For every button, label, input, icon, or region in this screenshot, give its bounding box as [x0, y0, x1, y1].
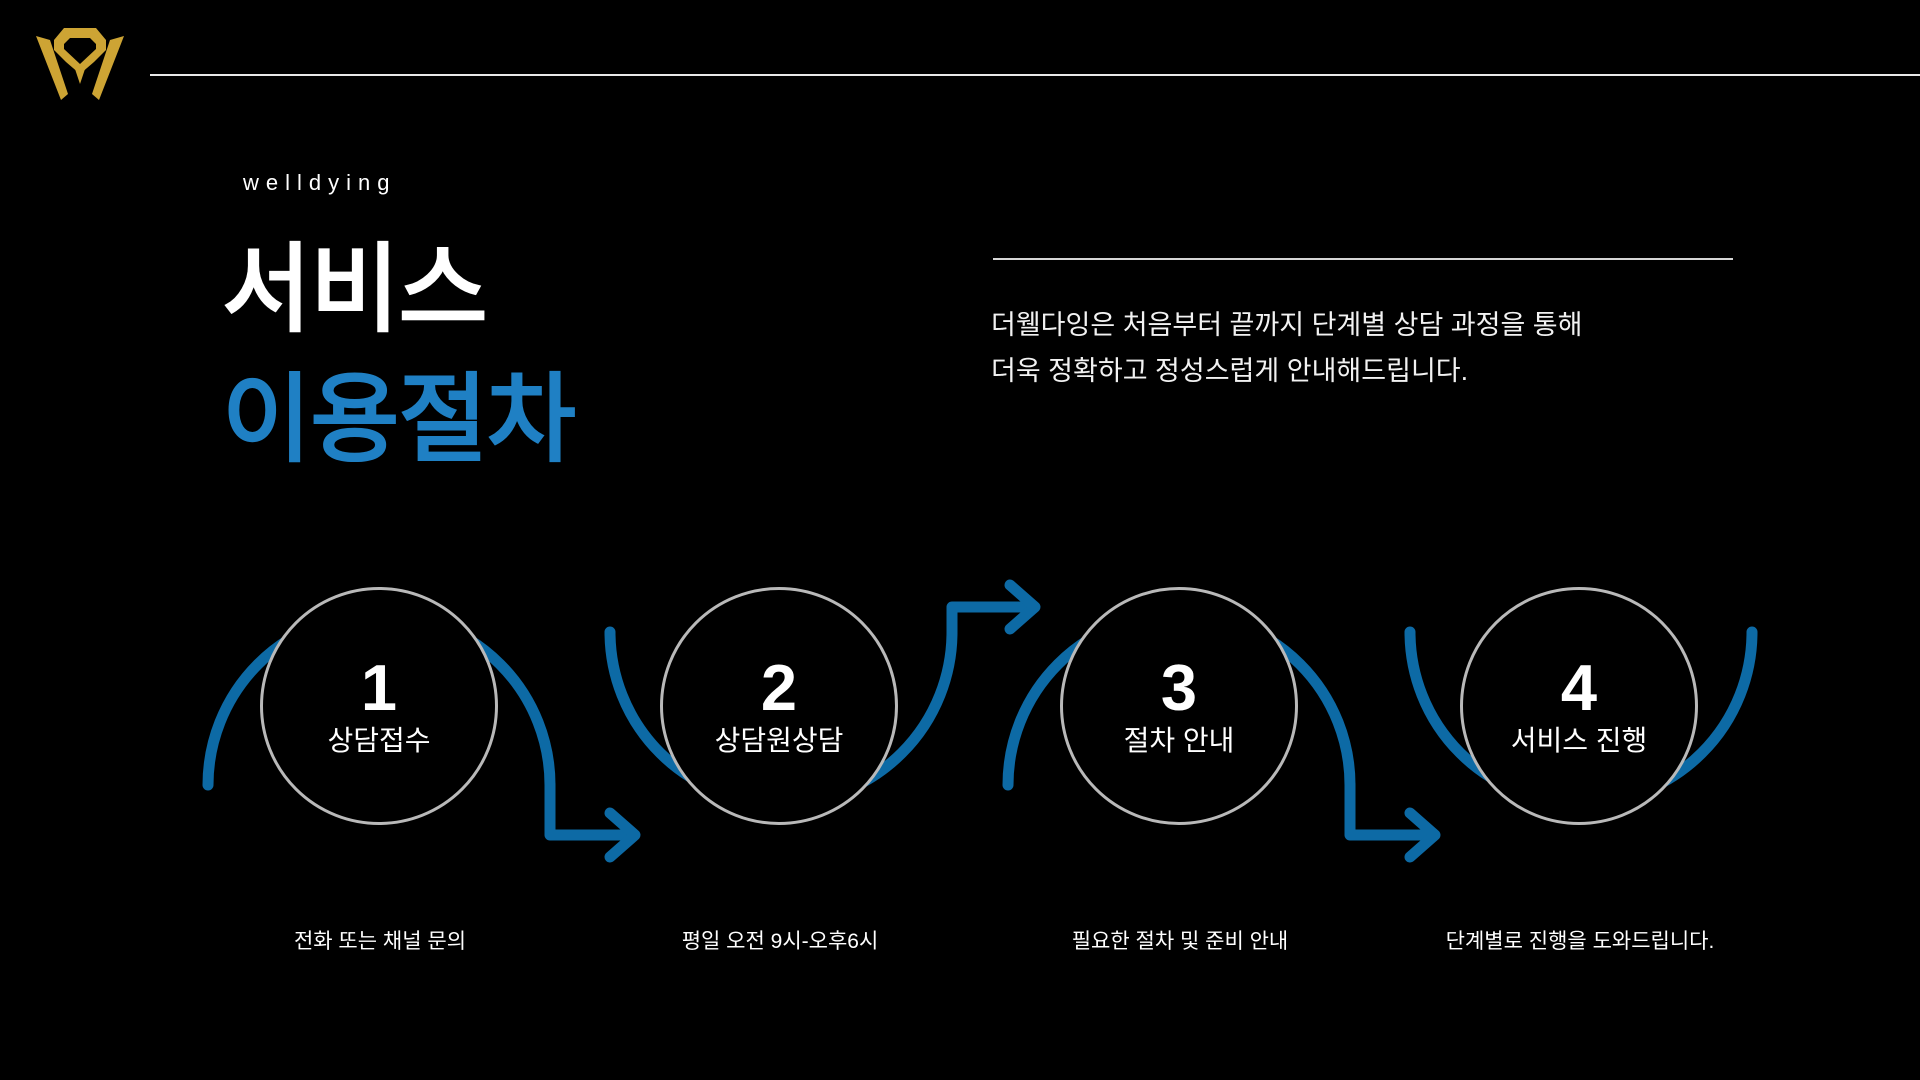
hero-description: 더웰다잉은 처음부터 끝까지 단계별 상담 과정을 통해 더욱 정확하고 정성스… [991, 302, 1781, 394]
step-number: 4 [1561, 654, 1597, 722]
step-circle-4: 4 서비스 진행 [1460, 587, 1698, 825]
step-number: 2 [761, 654, 797, 722]
step-number: 1 [361, 654, 397, 722]
process-step-4[interactable]: 4 서비스 진행 단계별로 진행을 도와드립니다. [1380, 560, 1780, 980]
description-line-1: 더웰다잉은 처음부터 끝까지 단계별 상담 과정을 통해 [991, 302, 1781, 348]
step-circle-1: 1 상담접수 [260, 587, 498, 825]
step-label: 서비스 진행 [1511, 724, 1648, 758]
header-divider [150, 74, 1920, 76]
step-label: 상담접수 [327, 724, 430, 758]
step-pill-2[interactable]: 평일 오전 9시-오후6시 [656, 913, 905, 971]
step-circle-3: 3 절차 안내 [1060, 587, 1298, 825]
step-pill-4[interactable]: 단계별로 진행을 도와드립니다. [1420, 913, 1741, 971]
step-pill-wrap-2: 평일 오전 9시-오후6시 [580, 913, 980, 971]
process-steps: 1 상담접수 전화 또는 채널 문의 2 상담원상담 평일 오전 9시-오후6시… [0, 560, 1920, 980]
page-header [0, 0, 1920, 118]
eyebrow-label: welldying [243, 170, 397, 196]
step-pill-3[interactable]: 필요한 절차 및 준비 안내 [1046, 913, 1315, 971]
step-label: 절차 안내 [1124, 724, 1235, 758]
description-line-2: 더욱 정확하고 정성스럽게 안내해드립니다. [991, 348, 1781, 394]
step-pill-wrap-4: 단계별로 진행을 도와드립니다. [1380, 913, 1780, 971]
step-pill-wrap-1: 전화 또는 채널 문의 [180, 913, 580, 971]
step-pill-1[interactable]: 전화 또는 채널 문의 [268, 913, 492, 971]
step-number: 3 [1161, 654, 1197, 722]
welldying-logo-icon [34, 22, 126, 100]
step-circle-2: 2 상담원상담 [660, 587, 898, 825]
description-divider [993, 258, 1733, 260]
page-title-main: 서비스 [222, 238, 487, 342]
process-step-3[interactable]: 3 절차 안내 필요한 절차 및 준비 안내 [980, 560, 1380, 980]
process-step-1[interactable]: 1 상담접수 전화 또는 채널 문의 [180, 560, 580, 980]
step-label: 상담원상담 [715, 724, 844, 758]
process-step-2[interactable]: 2 상담원상담 평일 오전 9시-오후6시 [580, 560, 980, 980]
step-pill-wrap-3: 필요한 절차 및 준비 안내 [980, 913, 1380, 971]
page-title-accent: 이용절차 [222, 368, 575, 472]
